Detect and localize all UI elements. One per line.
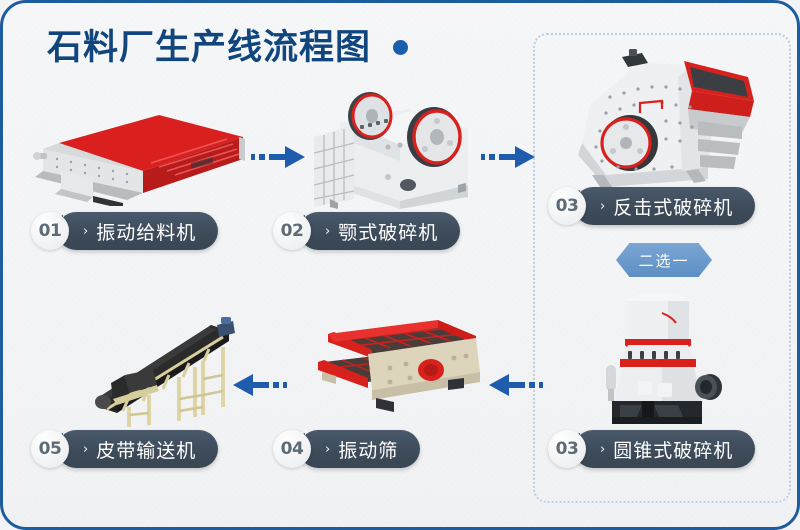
page-title-wrap: 石料厂生产线流程图 <box>47 19 408 70</box>
machine-belt-conveyor <box>83 303 263 428</box>
step-number-03-impact: 03 <box>548 187 586 225</box>
title-dot-icon <box>393 40 408 55</box>
step-label-04: 振动筛 <box>338 436 398 463</box>
step-number-05: 05 <box>31 430 69 468</box>
machine-vibrating-feeder <box>31 101 246 206</box>
machine-jaw-crusher <box>308 81 488 211</box>
arrow-cone-to-screen <box>487 371 543 399</box>
step-number-01: 01 <box>31 212 69 250</box>
step-label-02: 颚式破碎机 <box>338 218 438 245</box>
step-number-02: 02 <box>273 212 311 250</box>
step-label-01: 振动给料机 <box>96 218 196 245</box>
step-label-05: 皮带输送机 <box>96 436 196 463</box>
step-number-04: 04 <box>273 430 311 468</box>
arrow-screen-to-conveyor <box>231 371 287 399</box>
step-chip-03-impact[interactable]: 03 › 反击式破碎机 <box>548 187 755 225</box>
flowchart-page: 石料厂生产线流程图 <box>0 0 800 530</box>
step-chip-02[interactable]: 02 › 颚式破碎机 <box>273 212 460 250</box>
step-pill-03-cone[interactable]: › 圆锥式破碎机 <box>574 430 755 468</box>
chevron-right-icon: › <box>325 224 330 239</box>
chevron-right-icon: › <box>600 442 605 457</box>
step-chip-05[interactable]: 05 › 皮带输送机 <box>31 430 218 468</box>
step-label-03-cone: 圆锥式破碎机 <box>613 436 733 463</box>
step-pill-01[interactable]: › 振动给料机 <box>57 212 218 250</box>
chevron-right-icon: › <box>83 442 88 457</box>
page-title: 石料厂生产线流程图 <box>47 19 371 70</box>
step-pill-03-impact[interactable]: › 反击式破碎机 <box>574 187 755 225</box>
choose-one-badge: 二选一 <box>616 243 712 277</box>
arrow-jaw-to-impact <box>481 143 537 171</box>
step-label-03-impact: 反击式破碎机 <box>613 193 733 220</box>
chevron-right-icon: › <box>83 224 88 239</box>
step-number-03-cone: 03 <box>548 430 586 468</box>
chevron-right-icon: › <box>325 442 330 457</box>
step-pill-04[interactable]: › 振动筛 <box>299 430 420 468</box>
step-pill-05[interactable]: › 皮带输送机 <box>57 430 218 468</box>
arrow-feeder-to-jaw <box>251 143 307 171</box>
chevron-right-icon: › <box>600 199 605 214</box>
machine-impact-crusher <box>566 47 766 197</box>
step-chip-01[interactable]: 01 › 振动给料机 <box>31 212 218 250</box>
machine-cone-crusher <box>598 285 743 425</box>
step-chip-04[interactable]: 04 › 振动筛 <box>273 430 420 468</box>
step-chip-03-cone[interactable]: 03 › 圆锥式破碎机 <box>548 430 755 468</box>
step-pill-02[interactable]: › 颚式破碎机 <box>299 212 460 250</box>
machine-vibrating-screen <box>298 316 488 426</box>
